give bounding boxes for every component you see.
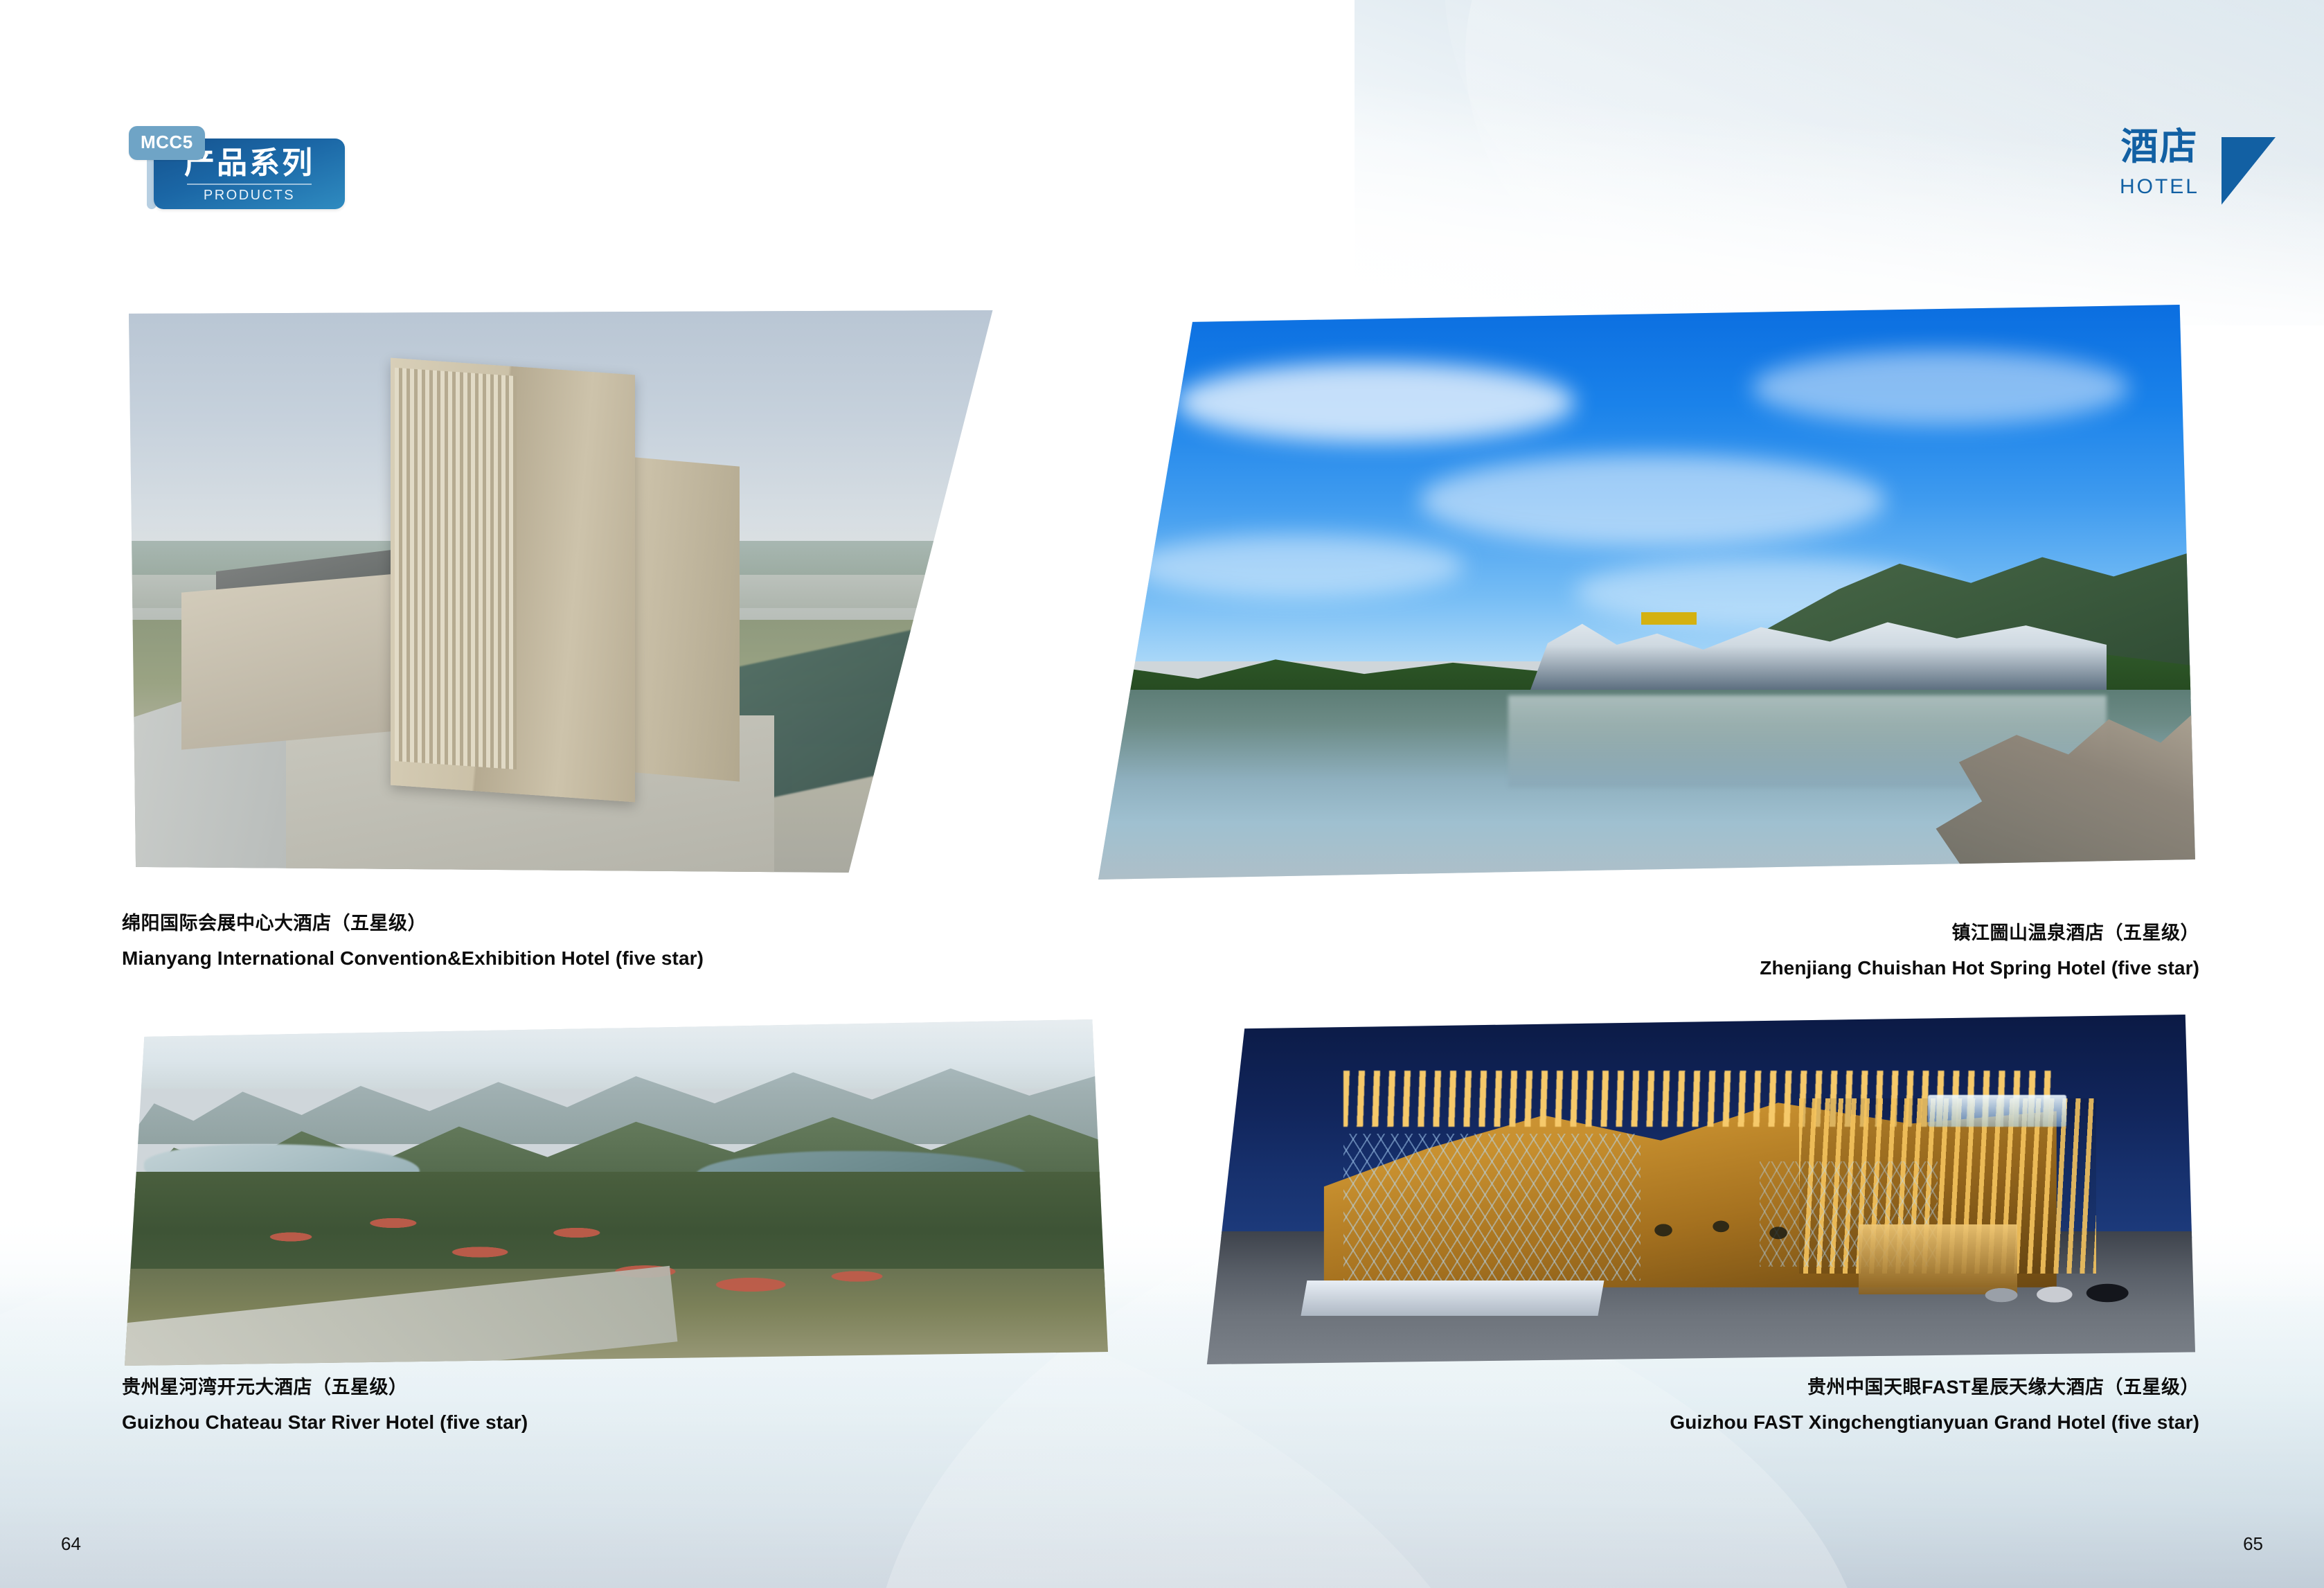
photo-zhenjiang-hotel [1087, 305, 2195, 880]
products-divider [187, 184, 312, 185]
brochure-page: 产品系列 PRODUCTS MCC5 酒店 HOTEL [0, 0, 2324, 1588]
section-header-hotel: 酒店 HOTEL [2120, 128, 2199, 197]
triangle-icon [2222, 137, 2276, 205]
caption-guizhou-star-river: 贵州星河湾开元大酒店（五星级） Guizhou Chateau Star Riv… [122, 1377, 528, 1434]
section-title-en: HOTEL [2120, 177, 2199, 197]
products-swoosh-3 [337, 140, 427, 215]
products-title-en: PRODUCTS [204, 188, 295, 202]
caption-en: Zhenjiang Chuishan Hot Spring Hotel (fiv… [1760, 957, 2199, 979]
page-number-left: 64 [61, 1533, 81, 1555]
caption-zhenjiang: 镇江圌山温泉酒店（五星级） Zhenjiang Chuishan Hot Spr… [1760, 922, 2199, 979]
photo-guizhou-fast-hotel [1205, 1015, 2195, 1364]
photo-guizhou-star-river-hotel [125, 1019, 1108, 1366]
products-swoosh-group [337, 140, 427, 215]
caption-cn: 贵州星河湾开元大酒店（五星级） [122, 1377, 528, 1398]
mcc5-badge: MCC5 [129, 126, 205, 160]
caption-en: Mianyang International Convention&Exhibi… [122, 947, 704, 970]
caption-en: Guizhou FAST Xingchengtianyuan Grand Hot… [1670, 1411, 2199, 1434]
photo-mianyang-hotel [129, 310, 1001, 873]
caption-mianyang: 绵阳国际会展中心大酒店（五星级） Mianyang International … [122, 913, 704, 970]
caption-cn: 绵阳国际会展中心大酒店（五星级） [122, 913, 704, 934]
caption-en: Guizhou Chateau Star River Hotel (five s… [122, 1411, 528, 1434]
caption-cn: 贵州中国天眼FAST星辰天缘大酒店（五星级） [1670, 1377, 2199, 1398]
caption-guizhou-fast: 贵州中国天眼FAST星辰天缘大酒店（五星级） Guizhou FAST Xing… [1670, 1377, 2199, 1434]
caption-cn: 镇江圌山温泉酒店（五星级） [1760, 922, 2199, 944]
section-title-cn: 酒店 [2120, 128, 2199, 166]
page-number-right: 65 [2243, 1533, 2263, 1555]
